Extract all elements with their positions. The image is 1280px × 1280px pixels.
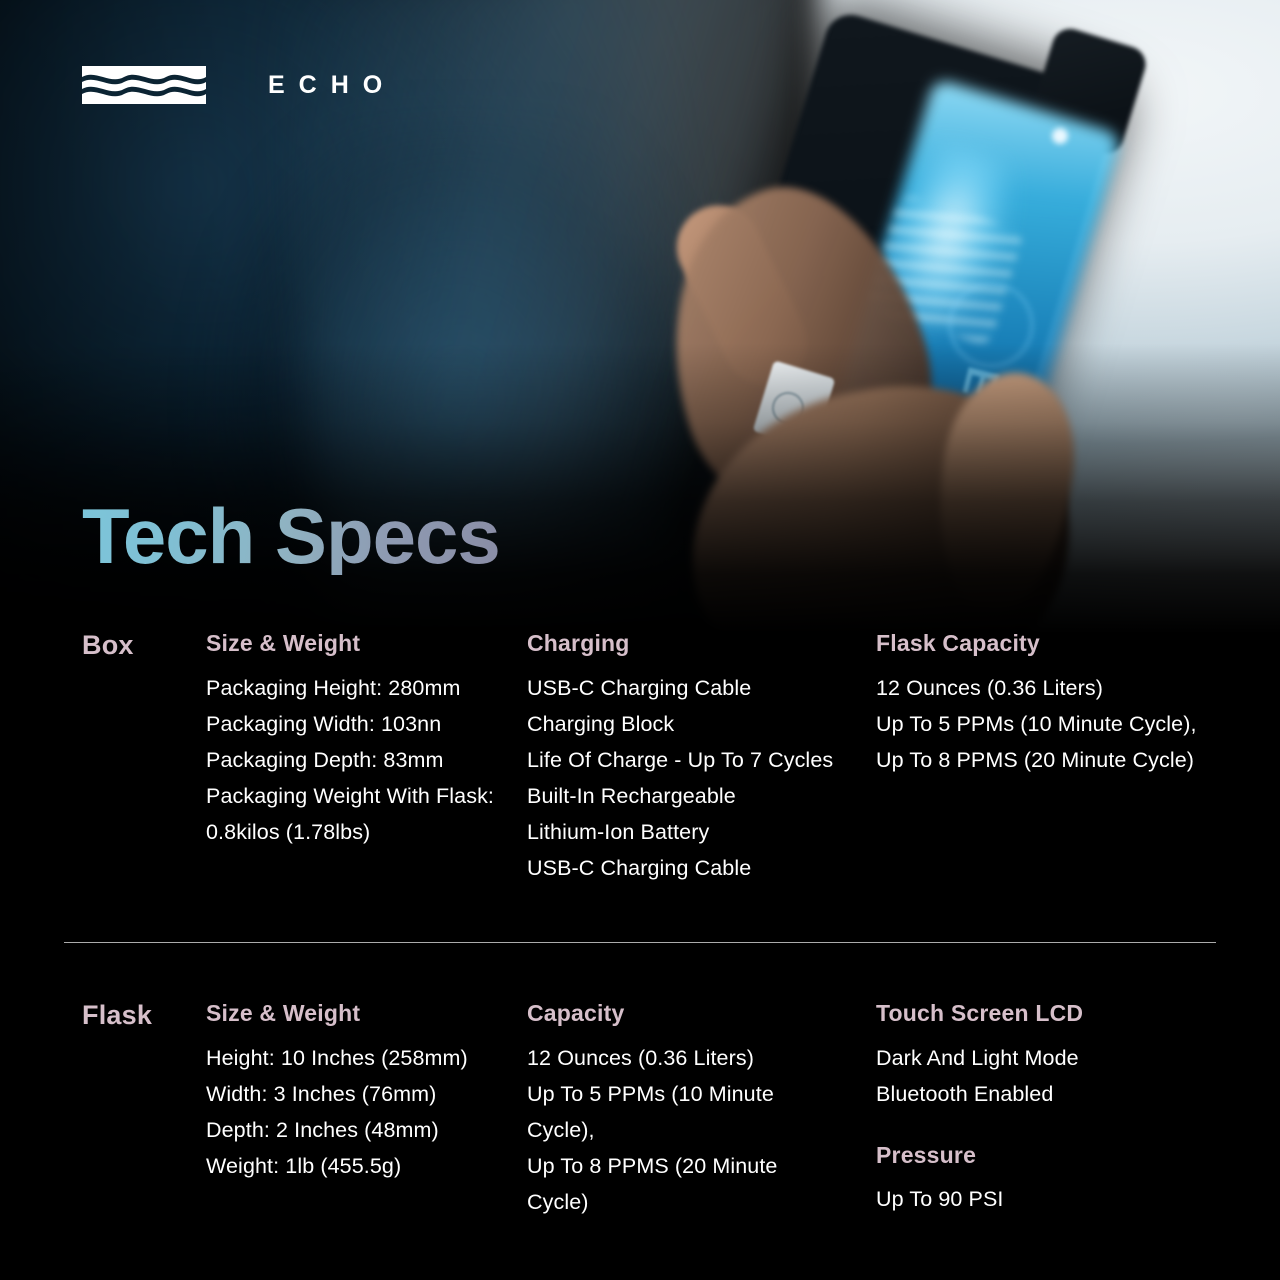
spec-column-flask-capacity: Capacity 12 Ounces (0.36 Liters) Up To 5…	[527, 1000, 857, 1220]
wave-lines-logo-icon	[82, 66, 206, 104]
spec-item: Depth: 2 Inches (48mm)	[206, 1112, 506, 1148]
spec-item: Up To 8 PPMS (20 Minute Cycle)	[876, 742, 1226, 778]
column-heading: Size & Weight	[206, 630, 506, 658]
spec-item: Charging Block	[527, 706, 857, 742]
spec-item: Cycle)	[527, 1184, 857, 1220]
spec-item: Packaging Width: 103nn	[206, 706, 506, 742]
spec-item: 12 Ounces (0.36 Liters)	[527, 1040, 857, 1076]
spec-column-box-charging: Charging USB-C Charging Cable Charging B…	[527, 630, 857, 886]
spec-item: USB-C Charging Cable	[527, 850, 857, 886]
spec-section-box: Box Size & Weight Packaging Height: 280m…	[0, 630, 1280, 942]
spec-item: Packaging Weight With Flask:	[206, 778, 506, 814]
spec-item: USB-C Charging Cable	[527, 670, 857, 706]
spec-column-box-flask-capacity: Flask Capacity 12 Ounces (0.36 Liters) U…	[876, 630, 1226, 778]
spec-column-box-size-weight: Size & Weight Packaging Height: 280mm Pa…	[206, 630, 506, 850]
brand-logo[interactable]: ECHO	[82, 66, 396, 104]
spec-list: Height: 10 Inches (258mm) Width: 3 Inche…	[206, 1040, 506, 1184]
tech-specs-page: E C H ECHO Tech Specs Box	[0, 0, 1280, 1280]
spec-item: 12 Ounces (0.36 Liters)	[876, 670, 1226, 706]
spec-list-pressure: Up To 90 PSI	[876, 1181, 1226, 1217]
spec-column-flask-touchscreen: Touch Screen LCD Dark And Light Mode Blu…	[876, 1000, 1226, 1218]
spec-list: Dark And Light Mode Bluetooth Enabled	[876, 1040, 1226, 1112]
spec-item: Bluetooth Enabled	[876, 1076, 1226, 1112]
page-title: Tech Specs	[82, 497, 500, 575]
spec-item: Packaging Depth: 83mm	[206, 742, 506, 778]
spec-grid: Box Size & Weight Packaging Height: 280m…	[0, 630, 1280, 1280]
spec-item: Life Of Charge - Up To 7 Cycles	[527, 742, 857, 778]
spec-column-flask-size-weight: Size & Weight Height: 10 Inches (258mm) …	[206, 1000, 506, 1184]
column-heading: Charging	[527, 630, 857, 658]
spec-item: Height: 10 Inches (258mm)	[206, 1040, 506, 1076]
spec-list: 12 Ounces (0.36 Liters) Up To 5 PPMs (10…	[527, 1040, 857, 1221]
spec-section-flask: Flask Size & Weight Height: 10 Inches (2…	[0, 1000, 1280, 1280]
column-heading: Flask Capacity	[876, 630, 1226, 658]
spec-item: Built-In Rechargeable	[527, 778, 857, 814]
spec-item: Up To 8 PPMS (20 Minute	[527, 1148, 857, 1184]
column-heading: Touch Screen LCD	[876, 1000, 1226, 1028]
spec-item: Lithium-Ion Battery	[527, 814, 857, 850]
spec-item: Up To 90 PSI	[876, 1181, 1226, 1217]
spec-item: Cycle),	[527, 1112, 857, 1148]
column-heading: Size & Weight	[206, 1000, 506, 1028]
column-heading-pressure: Pressure	[876, 1142, 1226, 1170]
spec-item: 0.8kilos (1.78lbs)	[206, 814, 506, 850]
spec-list: Packaging Height: 280mm Packaging Width:…	[206, 670, 506, 851]
spec-item: Up To 5 PPMs (10 Minute Cycle),	[876, 706, 1226, 742]
spec-list: 12 Ounces (0.36 Liters) Up To 5 PPMs (10…	[876, 670, 1226, 778]
brand-wordmark: ECHO	[268, 73, 396, 98]
spec-list: USB-C Charging Cable Charging Block Life…	[527, 670, 857, 887]
spec-item: Packaging Height: 280mm	[206, 670, 506, 706]
spec-item: Up To 5 PPMs (10 Minute	[527, 1076, 857, 1112]
column-heading: Capacity	[527, 1000, 857, 1028]
spec-item: Dark And Light Mode	[876, 1040, 1226, 1076]
spec-item: Width: 3 Inches (76mm)	[206, 1076, 506, 1112]
spec-item: Weight: 1lb (455.5g)	[206, 1148, 506, 1184]
